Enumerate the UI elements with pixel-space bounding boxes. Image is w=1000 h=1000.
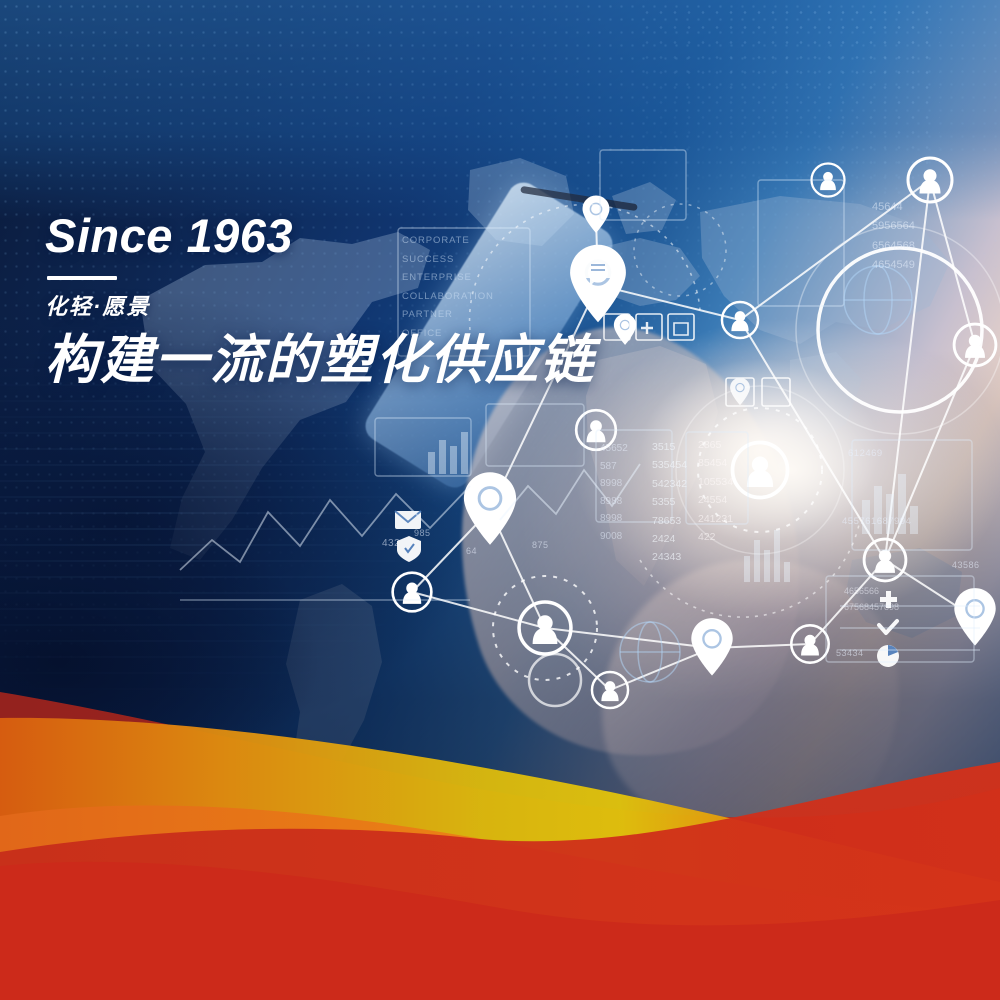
data-number-64: 64 [466,546,477,556]
number-value: 24554 [698,491,733,509]
number-value: 542342 [652,475,687,493]
number-value: 78653 [652,512,687,530]
number-value: 8998 [600,510,628,528]
decorative-wave-group [0,670,1000,1000]
number-value: 4654549 [872,256,915,275]
number-value: 4656566 [844,584,899,600]
data-number-432: 432 [382,538,400,549]
data-number-column-d: 45644 5956564 6564568 4654549 [872,198,915,275]
subtitle-label: 化轻·愿景 [45,289,665,321]
since-label: Since 1963 [45,212,665,259]
number-value: 535454 [652,456,687,474]
number-value: 8998 [600,475,628,493]
solid-red-block [0,932,1000,1000]
number-value: 3515 [652,438,687,456]
number-value: 8988 [600,493,628,511]
data-number-column-b: 3515 535454 542342 5355 78653 2424 24343 [652,438,687,567]
number-value: 5956564 [872,217,915,236]
number-value: 67568457898 [844,600,899,616]
number-value: 45652 [600,440,628,458]
data-number-column-e: 4656566 67568457898 [844,584,899,616]
data-number-column-a: 45652 587 8998 8988 8998 9008 [600,440,628,545]
number-value: 587 [600,458,628,476]
number-value: 9008 [600,528,628,546]
page-title: 构建一流的塑化供应链 [45,331,665,390]
number-value: 2424 [652,530,687,548]
number-value: 6564568 [872,237,915,256]
data-number-column-c: 2865 85454 105534 24554 241231 422 [698,436,733,546]
data-number-43586: 43586 [952,560,980,570]
data-number-612469: 612469 [848,448,883,459]
data-number-53434: 53434 [836,648,864,658]
number-value: 105534 [698,473,733,491]
number-value: 45644 [872,198,915,217]
number-value: 2865 [698,436,733,454]
number-value: 85454 [698,454,733,472]
data-number-875: 875 [532,540,549,550]
number-value: 422 [698,528,733,546]
number-value: 24343 [652,548,687,566]
number-value: 241231 [698,510,733,528]
divider-rule [47,276,117,280]
headline-block: Since 1963 化轻·愿景 构建一流的塑化供应链 [45,212,665,390]
number-value: 5355 [652,493,687,511]
brand-banner: CORPORATE SUCCESS ENTERPRISE COLLABORATI… [0,0,1000,1000]
data-number-455761687994: 455761687994 [842,516,911,527]
data-number-985: 985 [414,528,431,538]
